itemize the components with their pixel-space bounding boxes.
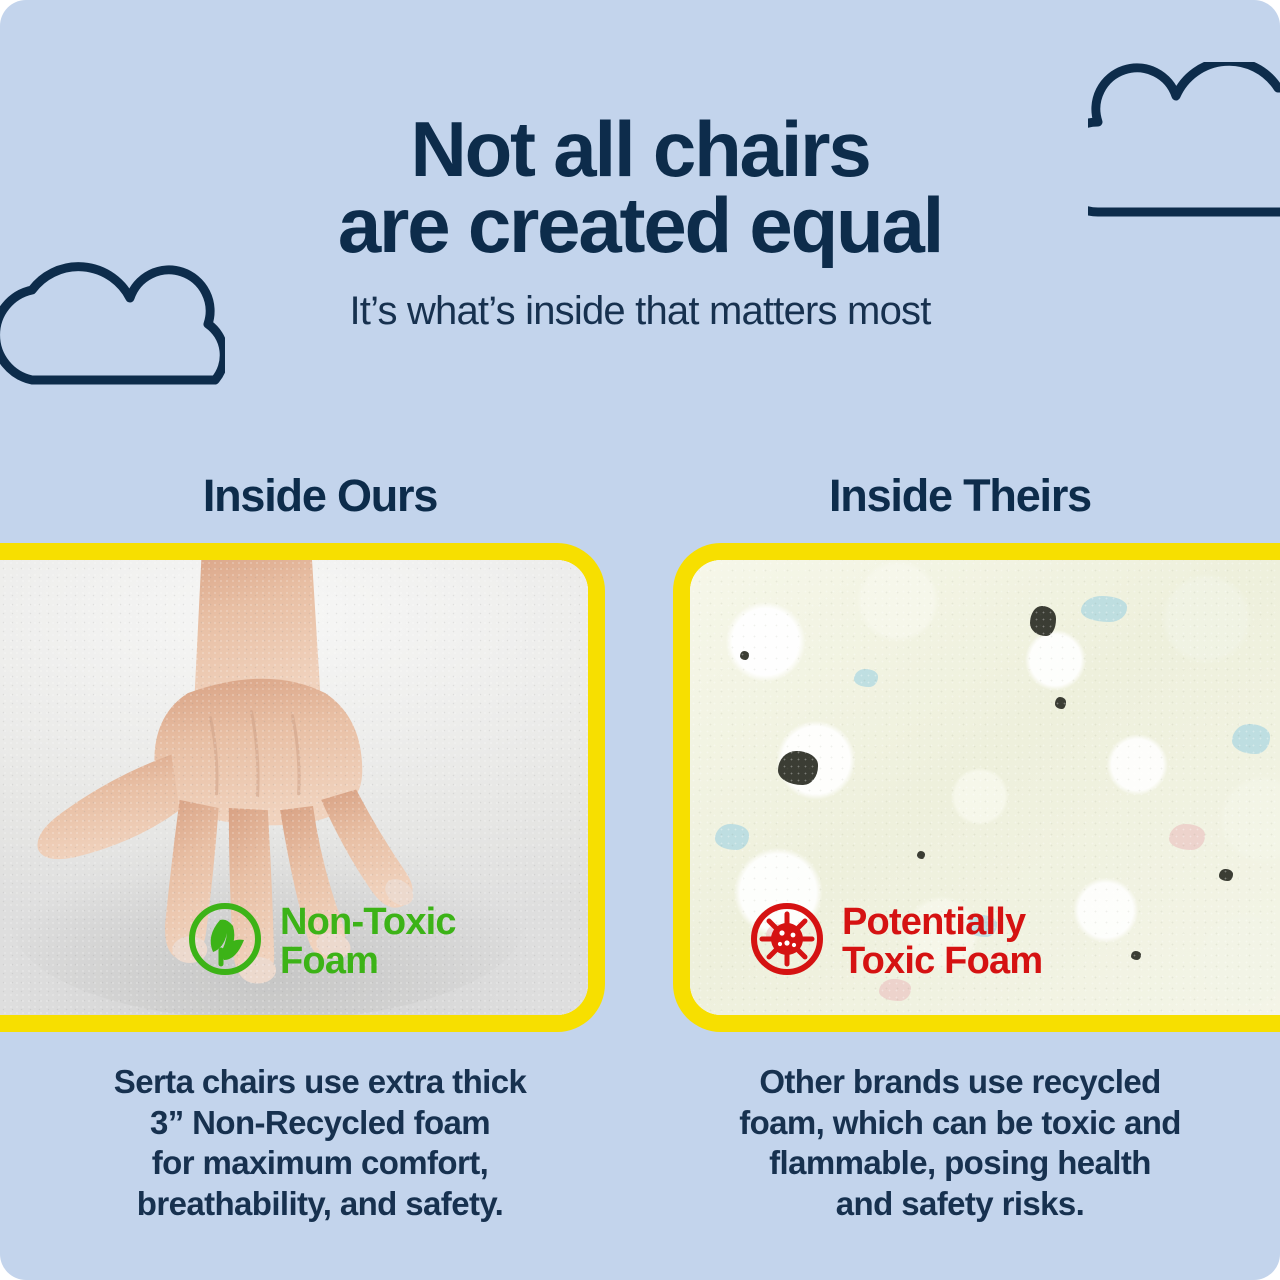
header-block: Not all chairs are created equal It’s wh… — [0, 112, 1280, 334]
infographic-page: Not all chairs are created equal It’s wh… — [0, 0, 1280, 1280]
germ-icon — [748, 900, 826, 983]
caption-theirs: Other brands use recycled foam, which ca… — [660, 1062, 1260, 1224]
badge-label-toxic: Potentially Toxic Foam — [842, 903, 1042, 981]
caption-ours: Serta chairs use extra thick 3” Non-Recy… — [20, 1062, 620, 1224]
leaf-icon — [186, 900, 264, 983]
badge-potentially-toxic-foam: Potentially Toxic Foam — [748, 900, 1042, 983]
badge-label-non-toxic: Non-Toxic Foam — [280, 903, 456, 981]
page-title: Not all chairs are created equal — [0, 112, 1280, 263]
column-title-theirs: Inside Theirs — [640, 470, 1280, 522]
badge-non-toxic-foam: Non-Toxic Foam — [186, 900, 456, 983]
page-subtitle: It’s what’s inside that matters most — [0, 289, 1280, 334]
column-title-ours: Inside Ours — [0, 470, 640, 522]
